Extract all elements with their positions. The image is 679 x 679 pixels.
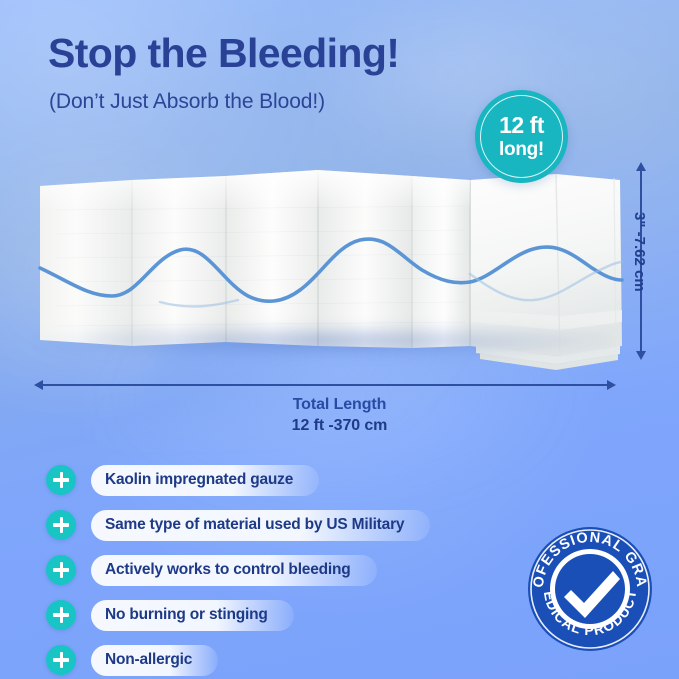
product-image-gauze bbox=[0, 150, 679, 380]
arrow-right-icon bbox=[607, 380, 616, 390]
infographic-canvas: Stop the Bleeding! (Don’t Just Absorb th… bbox=[0, 0, 679, 679]
length-dimension-arrow bbox=[42, 384, 608, 386]
plus-icon bbox=[46, 465, 76, 495]
page-title: Stop the Bleeding! bbox=[48, 30, 399, 77]
arrow-down-icon bbox=[636, 351, 646, 360]
height-dimension-label: 3" -7.62 cm bbox=[631, 212, 648, 292]
arrow-up-icon bbox=[636, 162, 646, 171]
length-dimension-label: Total Length 12 ft -370 cm bbox=[0, 396, 679, 435]
length-badge-line1: 12 ft bbox=[499, 114, 544, 137]
total-length-value: 12 ft -370 cm bbox=[0, 417, 679, 435]
arrow-left-icon bbox=[34, 380, 43, 390]
feature-label: Non-allergic bbox=[91, 645, 218, 676]
plus-icon bbox=[46, 555, 76, 585]
list-item: Kaolin impregnated gauze bbox=[46, 460, 516, 500]
plus-icon bbox=[46, 510, 76, 540]
professional-grade-seal: PROFESSIONAL GRADE MEDICAL PRODUCTS bbox=[527, 526, 653, 652]
feature-label: No burning or stinging bbox=[91, 600, 294, 631]
list-item: Same type of material used by US Militar… bbox=[46, 505, 516, 545]
plus-icon bbox=[46, 645, 76, 675]
list-item: Actively works to control bleeding bbox=[46, 550, 516, 590]
page-subtitle: (Don’t Just Absorb the Blood!) bbox=[49, 90, 325, 114]
feature-label: Actively works to control bleeding bbox=[91, 555, 377, 586]
length-badge: 12 ft long! bbox=[475, 90, 568, 183]
length-badge-line2: long! bbox=[499, 140, 544, 159]
plus-icon bbox=[46, 600, 76, 630]
product-shadow bbox=[40, 328, 615, 354]
seal-graphic: PROFESSIONAL GRADE MEDICAL PRODUCTS bbox=[527, 526, 653, 652]
list-item: Non-allergic bbox=[46, 640, 516, 679]
feature-list: Kaolin impregnated gauze Same type of ma… bbox=[46, 460, 516, 679]
length-badge-text: 12 ft long! bbox=[475, 90, 568, 183]
total-length-title: Total Length bbox=[0, 396, 679, 414]
feature-label: Same type of material used by US Militar… bbox=[91, 510, 430, 541]
feature-label: Kaolin impregnated gauze bbox=[91, 465, 319, 496]
list-item: No burning or stinging bbox=[46, 595, 516, 635]
